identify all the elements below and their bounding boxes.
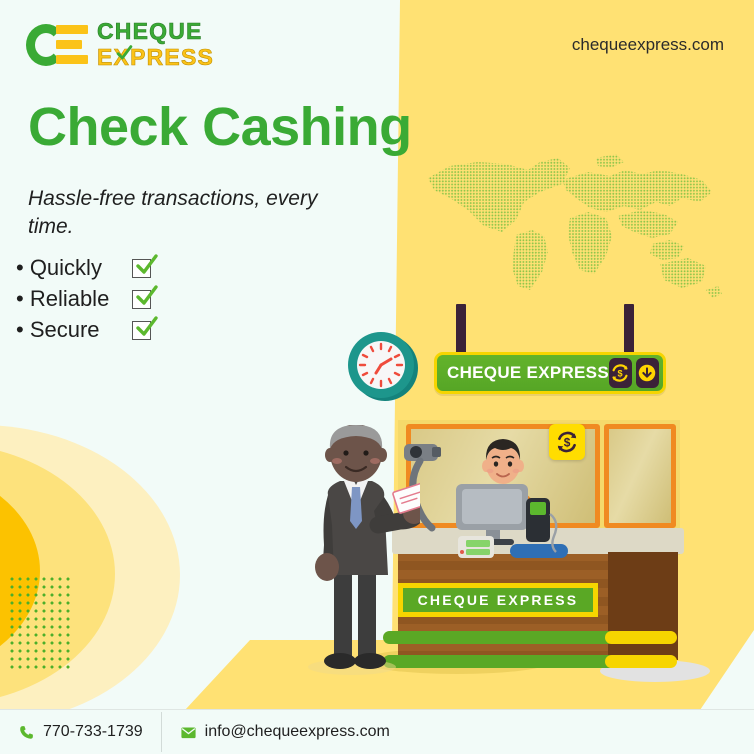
svg-text:$: $ bbox=[618, 369, 623, 379]
website-url[interactable]: chequeexpress.com bbox=[572, 35, 724, 55]
phone-number: 770-733-1739 bbox=[43, 723, 143, 741]
feature-label: • Quickly bbox=[16, 255, 126, 281]
list-item: • Reliable bbox=[16, 283, 154, 314]
checkbox-checked-icon bbox=[132, 288, 154, 310]
checkmark-icon bbox=[116, 43, 133, 63]
check-tick-icon bbox=[134, 253, 158, 277]
world-map-graphic bbox=[420, 140, 740, 300]
sign-pole-left bbox=[456, 304, 466, 356]
checkbox-checked-icon bbox=[132, 257, 154, 279]
feature-list: • Quickly • Reliable • Secure bbox=[16, 252, 154, 345]
hanging-shop-sign: CHEQUE EXPRESS $ bbox=[434, 352, 666, 394]
dot-grid-decoration bbox=[8, 575, 70, 671]
logo-text-express: EXPRESS bbox=[97, 46, 214, 69]
sign-pole-right bbox=[624, 304, 634, 356]
counter-stripe-yellow-bottom bbox=[605, 655, 677, 668]
wall-clock-icon bbox=[345, 328, 421, 404]
check-tick-icon bbox=[134, 284, 158, 308]
feature-label: • Reliable bbox=[16, 286, 126, 312]
envelope-icon bbox=[180, 724, 197, 741]
currency-exchange-badge-icon: $ bbox=[549, 424, 585, 460]
currency-exchange-icon: $ bbox=[609, 358, 632, 388]
counter-shop-sign: CHEQUE EXPRESS bbox=[398, 583, 598, 617]
logo-e-bar-middle bbox=[56, 40, 82, 49]
subtitle: Hassle-free transactions, every time. bbox=[28, 185, 358, 242]
check-tick-icon bbox=[134, 315, 158, 339]
list-item: • Quickly bbox=[16, 252, 154, 283]
hanging-sign-label: CHEQUE EXPRESS bbox=[447, 363, 609, 383]
list-item: • Secure bbox=[16, 314, 154, 345]
brand-logo[interactable]: CHEQUE EXPRESS bbox=[26, 20, 214, 69]
logo-express-label: EXPRESS bbox=[97, 44, 214, 70]
email-contact[interactable]: info@chequeexpress.com bbox=[162, 719, 408, 745]
logo-e-bar-top bbox=[56, 25, 88, 34]
phone-contact[interactable]: 770-733-1739 bbox=[0, 719, 161, 745]
svg-text:$: $ bbox=[564, 435, 571, 449]
logo-text-cheque: CHEQUE bbox=[97, 20, 214, 43]
logo-mark-icon bbox=[26, 22, 88, 68]
contact-footer: 770-733-1739 info@chequeexpress.com bbox=[0, 709, 754, 754]
download-arrow-icon bbox=[636, 358, 659, 388]
poster: CHEQUE EXPRESS chequeexpress.com Check C… bbox=[0, 0, 754, 754]
email-address: info@chequeexpress.com bbox=[205, 723, 390, 741]
customer-figure: $ bbox=[300, 425, 420, 675]
side-window-glass bbox=[604, 424, 676, 528]
page-title: Check Cashing bbox=[28, 96, 412, 158]
logo-e-bar-bottom bbox=[56, 55, 88, 64]
counter-stripe-yellow-top bbox=[605, 631, 677, 644]
checkbox-checked-icon bbox=[132, 319, 154, 341]
feature-label: • Secure bbox=[16, 317, 126, 343]
counter-sign-label: CHEQUE EXPRESS bbox=[418, 592, 579, 608]
logo-wordmark: CHEQUE EXPRESS bbox=[97, 20, 214, 69]
phone-icon bbox=[18, 724, 35, 741]
